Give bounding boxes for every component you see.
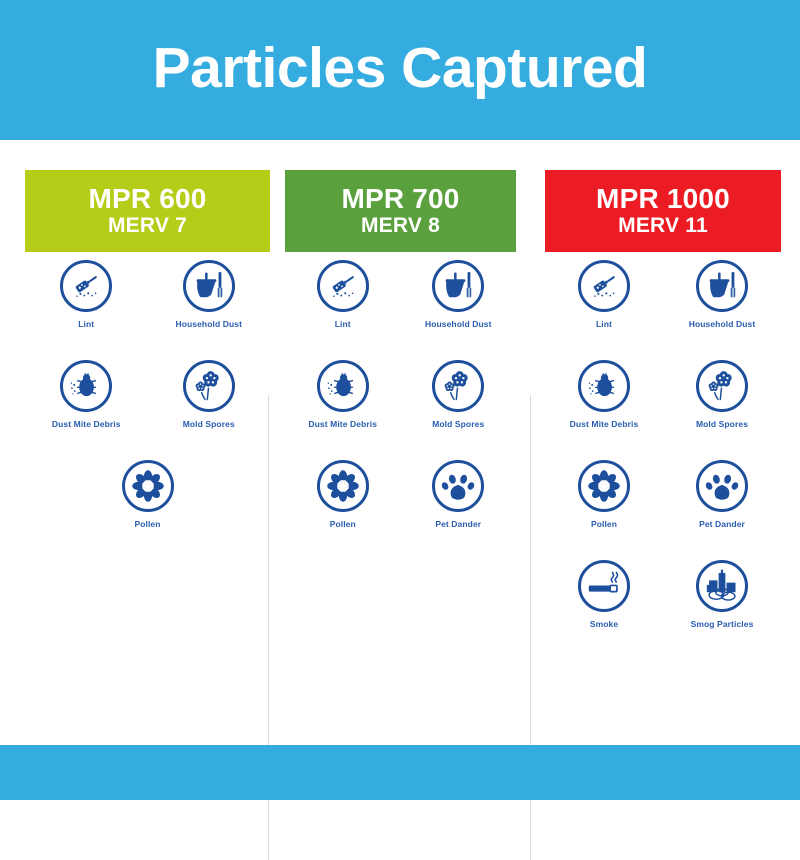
mold-spores-icon (183, 360, 235, 412)
particle-item: Dust Mite Debris (285, 360, 401, 448)
lint-roller-icon (60, 260, 112, 312)
particle-label: Smoke (590, 620, 618, 629)
particle-label: Household Dust (175, 320, 242, 329)
paw-print-icon (432, 460, 484, 512)
dust-mite-icon (578, 360, 630, 412)
particle-label: Lint (335, 320, 351, 329)
particle-item: Pollen (545, 460, 663, 548)
particle-label: Pet Dander (435, 520, 481, 529)
particle-label: Smog Particles (691, 620, 754, 629)
dustpan-brush-icon (432, 260, 484, 312)
smog-city-icon (696, 560, 748, 612)
particle-label: Dust Mite Debris (308, 420, 377, 429)
particle-item: Pet Dander (401, 460, 517, 548)
particle-item: Dust Mite Debris (25, 360, 148, 448)
column-merv-label: MERV 11 (618, 213, 708, 239)
particle-item: Mold Spores (663, 360, 781, 448)
particle-label: Household Dust (425, 320, 492, 329)
paw-print-icon (696, 460, 748, 512)
particles-captured-infographic: Particles Captured MPR 600 MERV 7 LintHo… (0, 0, 800, 800)
particle-item: Lint (545, 260, 663, 348)
pollen-flower-icon (317, 460, 369, 512)
page-footer-banner (0, 745, 800, 800)
particle-label: Mold Spores (432, 420, 484, 429)
columns-container: MPR 600 MERV 7 LintHousehold DustDust Mi… (0, 140, 800, 745)
particle-icon-grid-mpr-600: LintHousehold DustDust Mite DebrisMold S… (25, 260, 270, 560)
column-mpr-600: MPR 600 MERV 7 LintHousehold DustDust Mi… (25, 140, 270, 745)
column-header-mpr-600: MPR 600 MERV 7 (25, 170, 270, 252)
column-mpr-label: MPR 1000 (596, 185, 730, 214)
column-header-mpr-700: MPR 700 MERV 8 (285, 170, 516, 252)
pollen-flower-icon (578, 460, 630, 512)
particle-label: Dust Mite Debris (52, 420, 121, 429)
pollen-flower-icon (122, 460, 174, 512)
particle-item: Pollen (285, 460, 401, 548)
dustpan-brush-icon (696, 260, 748, 312)
particle-label: Household Dust (689, 320, 756, 329)
particle-item: Lint (285, 260, 401, 348)
particle-icon-grid-mpr-1000: LintHousehold DustDust Mite DebrisMold S… (545, 260, 781, 660)
particle-label: Pet Dander (699, 520, 745, 529)
particle-item: Lint (25, 260, 148, 348)
particle-item: Household Dust (148, 260, 271, 348)
particle-item: Dust Mite Debris (545, 360, 663, 448)
particle-label: Pollen (134, 520, 160, 529)
particle-item: Pet Dander (663, 460, 781, 548)
column-header-mpr-1000: MPR 1000 MERV 11 (545, 170, 781, 252)
cigarette-smoke-icon (578, 560, 630, 612)
mold-spores-icon (696, 360, 748, 412)
column-mpr-label: MPR 600 (88, 185, 206, 214)
page-title: Particles Captured (153, 40, 648, 97)
lint-roller-icon (317, 260, 369, 312)
page-header-banner: Particles Captured (0, 0, 800, 140)
particle-label: Dust Mite Debris (570, 420, 639, 429)
column-mpr-700: MPR 700 MERV 8 LintHousehold DustDust Mi… (285, 140, 516, 745)
particle-item: Smog Particles (663, 560, 781, 648)
particle-item: Mold Spores (148, 360, 271, 448)
column-mpr-1000: MPR 1000 MERV 11 LintHousehold DustDust … (545, 140, 781, 745)
particle-item: Household Dust (401, 260, 517, 348)
dust-mite-icon (317, 360, 369, 412)
mold-spores-icon (432, 360, 484, 412)
particle-item: Mold Spores (401, 360, 517, 448)
particle-label: Mold Spores (696, 420, 748, 429)
dustpan-brush-icon (183, 260, 235, 312)
particle-item: Smoke (545, 560, 663, 648)
particle-label: Mold Spores (183, 420, 235, 429)
lint-roller-icon (578, 260, 630, 312)
dust-mite-icon (60, 360, 112, 412)
particle-label: Pollen (591, 520, 617, 529)
particle-item: Pollen (86, 460, 209, 548)
column-mpr-label: MPR 700 (341, 185, 459, 214)
particle-label: Lint (596, 320, 612, 329)
particle-label: Lint (78, 320, 94, 329)
particle-label: Pollen (330, 520, 356, 529)
column-merv-label: MERV 8 (361, 213, 440, 239)
column-merv-label: MERV 7 (108, 213, 187, 239)
particle-item: Household Dust (663, 260, 781, 348)
particle-icon-grid-mpr-700: LintHousehold DustDust Mite DebrisMold S… (285, 260, 516, 560)
